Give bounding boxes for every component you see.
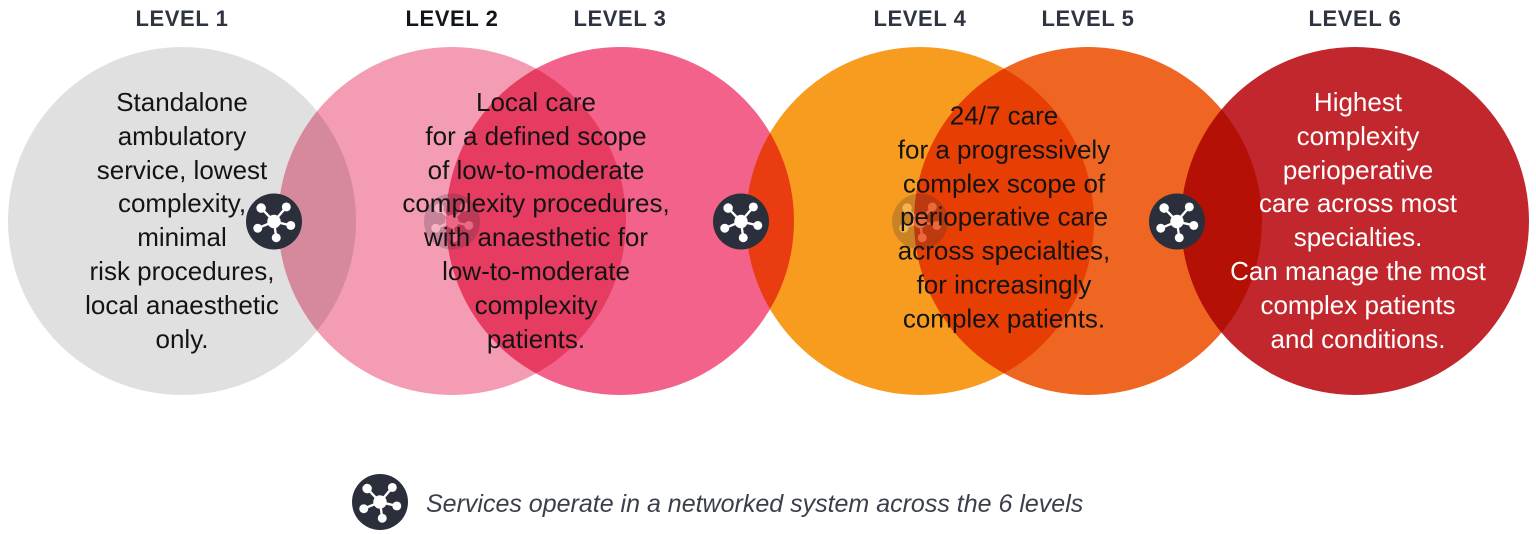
venn-circles-layer	[0, 0, 1536, 534]
level-4-label: LEVEL 4	[873, 6, 966, 32]
network-icon-3-4	[713, 194, 769, 255]
level-6-circle[interactable]	[1181, 47, 1529, 395]
network-icon	[352, 474, 408, 534]
network-icon-ghost-2-3	[424, 194, 480, 255]
level-3-label: LEVEL 3	[573, 6, 666, 32]
level-2-label: LEVEL 2	[405, 6, 498, 32]
level-5-label: LEVEL 5	[1041, 6, 1134, 32]
network-icon-5-6	[1149, 194, 1205, 255]
legend-label: Services operate in a networked system a…	[426, 490, 1083, 519]
level-6-label: LEVEL 6	[1308, 6, 1401, 32]
network-icon-1-2	[246, 194, 302, 255]
network-icon-ghost-4-5	[892, 194, 948, 255]
perioperative-service-levels-diagram: LEVEL 1 LEVEL 2 LEVEL 3 LEVEL 4 LEVEL 5 …	[0, 0, 1536, 534]
level-1-label: LEVEL 1	[135, 6, 228, 32]
legend: Services operate in a networked system a…	[352, 474, 1083, 534]
